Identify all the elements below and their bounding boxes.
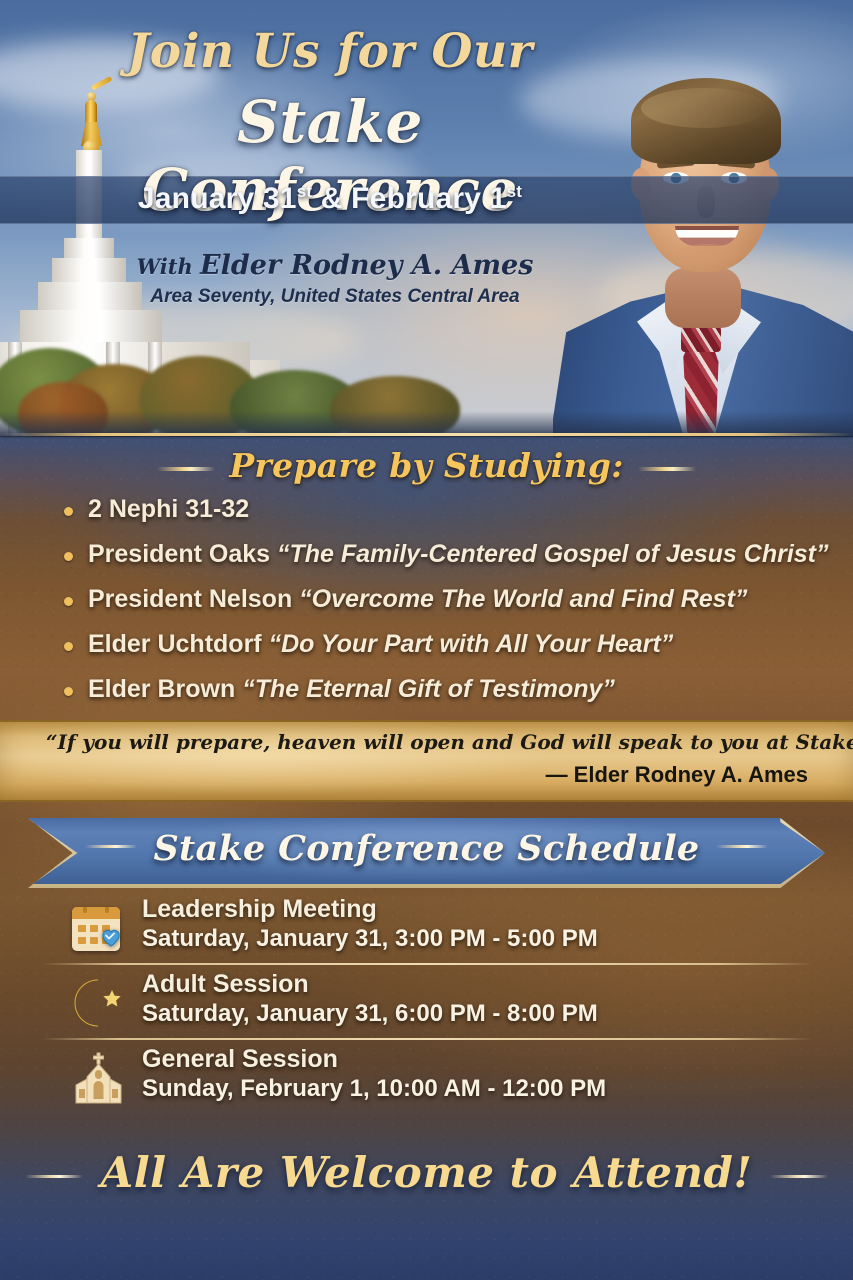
- schedule-list: Leadership Meeting Saturday, January 31,…: [0, 893, 853, 1118]
- dash-left-icon: [157, 467, 215, 471]
- date-ordinal-1: st: [297, 182, 313, 201]
- study-list-item: Elder Brown “The Eternal Gift of Testimo…: [62, 675, 802, 704]
- schedule-row: General Session Sunday, February 1, 10:0…: [0, 1043, 853, 1118]
- hero-text-block: Join Us for Our Stake Conference January…: [0, 0, 600, 437]
- schedule-time: Saturday, January 31, 6:00 PM - 8:00 PM: [142, 1000, 598, 1028]
- stake-conference-poster: Join Us for Our Stake Conference January…: [0, 0, 853, 1280]
- calendar-icon: [68, 901, 130, 959]
- welcome-footer-row: All Are Welcome to Attend!: [0, 1148, 853, 1197]
- study-item-title: “The Family-Centered Gospel of Jesus Chr…: [277, 540, 829, 568]
- study-item-title: “Overcome The World and Find Rest”: [299, 585, 747, 613]
- date-main-text: January 31: [138, 182, 297, 215]
- schedule-title: Leadership Meeting: [142, 895, 377, 924]
- prepare-heading: Prepare by Studying:: [229, 446, 623, 485]
- speaker-role: Area Seventy, United States Central Area: [100, 286, 570, 308]
- schedule-banner-title: Stake Conference Schedule: [153, 828, 699, 869]
- schedule-divider: [42, 1038, 812, 1040]
- dash-right-icon: [638, 467, 696, 471]
- footer-dash-left-icon: [25, 1175, 83, 1178]
- study-item-speaker: Elder Brown: [88, 675, 242, 703]
- study-list-items: 2 Nephi 31-32President Oaks “The Family-…: [62, 495, 802, 749]
- study-list-item: President Nelson “Overcome The World and…: [62, 585, 802, 614]
- study-list-item: 2 Nephi 31-32: [62, 495, 802, 524]
- schedule-time: Saturday, January 31, 3:00 PM - 5:00 PM: [142, 925, 598, 953]
- ribbon-dash-left-icon: [85, 845, 137, 848]
- section-divider-top: [0, 433, 853, 436]
- church-icon: [68, 1051, 130, 1109]
- schedule-row: Adult Session Saturday, January 31, 6:00…: [0, 968, 853, 1043]
- join-us-heading: Join Us for Our: [110, 24, 550, 79]
- prepare-heading-row: Prepare by Studying:: [0, 446, 853, 485]
- study-item-speaker: President Nelson: [88, 585, 299, 613]
- date-ordinal-2: st: [507, 182, 523, 201]
- speaker-name: Elder Rodney A. Ames: [200, 250, 533, 281]
- study-item-title: “The Eternal Gift of Testimony”: [242, 675, 615, 703]
- schedule-title: Adult Session: [142, 970, 309, 999]
- study-item-speaker: President Oaks: [88, 540, 277, 568]
- date-mid-text: & February 1: [312, 182, 506, 215]
- footer-dash-right-icon: [770, 1175, 828, 1178]
- ribbon-dash-right-icon: [716, 845, 768, 848]
- schedule-row: Leadership Meeting Saturday, January 31,…: [0, 893, 853, 968]
- crescent-moon-star-icon: [68, 976, 130, 1034]
- speaker-line: With Elder Rodney A. Ames: [100, 250, 570, 281]
- schedule-banner-title-row: Stake Conference Schedule: [28, 828, 825, 869]
- with-label: With: [137, 254, 200, 279]
- quote-text: “If you will prepare, heaven will open a…: [46, 730, 808, 754]
- study-list-item: Elder Uchtdorf “Do Your Part with All Yo…: [62, 630, 802, 659]
- study-item-speaker: Elder Uchtdorf: [88, 630, 269, 658]
- welcome-footer-text: All Are Welcome to Attend!: [101, 1148, 753, 1197]
- schedule-title: General Session: [142, 1045, 338, 1074]
- study-list-item: President Oaks “The Family-Centered Gosp…: [62, 540, 802, 569]
- heart-badge-icon: [98, 925, 124, 949]
- study-item-title: “Do Your Part with All Your Heart”: [269, 630, 674, 658]
- study-item-text: 2 Nephi 31-32: [88, 495, 249, 523]
- event-date: January 31st & February 1st: [100, 182, 560, 216]
- schedule-divider: [42, 963, 812, 965]
- quote-band: “If you will prepare, heaven will open a…: [0, 720, 853, 802]
- quote-attribution: — Elder Rodney A. Ames: [46, 762, 808, 788]
- schedule-time: Sunday, February 1, 10:00 AM - 12:00 PM: [142, 1075, 606, 1103]
